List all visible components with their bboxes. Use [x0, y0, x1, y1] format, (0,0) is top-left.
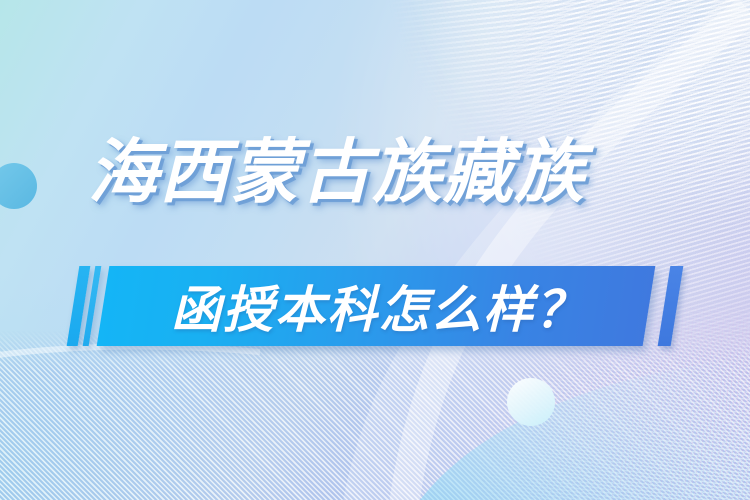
decorative-circle-left [0, 163, 37, 209]
decorative-curves [0, 0, 750, 500]
banner-title: 海西蒙古族藏族 [88, 137, 585, 207]
subtitle-band: 函授本科怎么样？ [0, 258, 750, 358]
banner-subtitle: 函授本科怎么样？ [0, 258, 750, 354]
decorative-circle-bottom [507, 378, 555, 426]
promo-banner: 海西蒙古族藏族 函授本科怎么样？ [0, 0, 750, 500]
